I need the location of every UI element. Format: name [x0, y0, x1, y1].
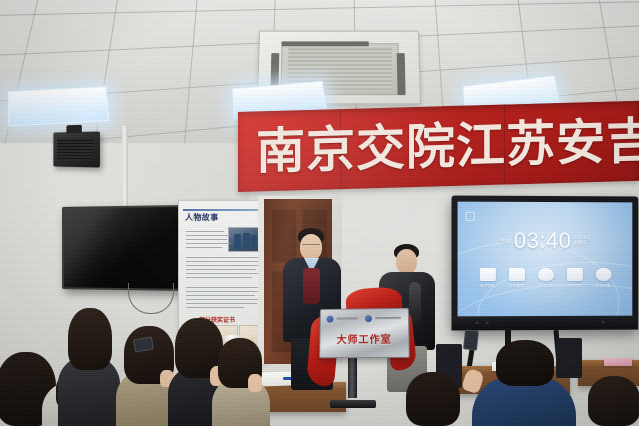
app-label: 文件管理 — [507, 284, 525, 289]
red-banner: 南京交院江苏安吉智行技能大 — [238, 101, 639, 192]
app-label: 电子白板 — [478, 284, 496, 289]
app-shortcut-row: 电子白板 文件管理 无线传屏 信号源 系统设置 — [458, 268, 633, 289]
institution-logo — [365, 315, 372, 322]
audience-member — [212, 338, 270, 426]
clock-period: 下午 — [500, 238, 512, 245]
display-bezel — [451, 316, 638, 331]
clock-widget: 下午03:402月19日星期三 — [458, 228, 633, 254]
plaque-text: 大师工作室 — [320, 331, 408, 347]
ceiling-light-panel — [8, 86, 110, 126]
wifi-cast-icon — [538, 268, 554, 281]
glasses-icon — [302, 244, 320, 248]
source-icon — [566, 268, 582, 281]
screen-status-icon — [466, 212, 475, 221]
wall-mounted-tv — [62, 205, 181, 291]
folder-icon — [508, 268, 524, 281]
app-label: 无线传屏 — [537, 283, 555, 288]
app-shortcut[interactable]: 文件管理 — [507, 268, 525, 289]
audience-member — [588, 376, 639, 426]
audience-member — [400, 372, 466, 426]
app-shortcut[interactable]: 电子白板 — [478, 268, 496, 289]
commemorative-plaque: 大师工作室 — [319, 308, 410, 358]
app-shortcut[interactable]: 信号源 — [565, 268, 583, 288]
whiteboard-icon — [479, 268, 495, 281]
plaque-logo-row — [327, 314, 402, 323]
poster-title: 人物故事 — [185, 212, 219, 223]
app-label: 信号源 — [565, 283, 583, 288]
app-label: 系统设置 — [594, 283, 612, 288]
banner-text: 南京交院江苏安吉智行技能大 — [256, 101, 639, 190]
poster-photo — [228, 227, 262, 252]
app-shortcut[interactable]: 无线传屏 — [537, 268, 555, 289]
wall-speaker-icon — [53, 131, 100, 167]
plaque-stand — [330, 352, 376, 408]
clock-time: 03:40 — [514, 228, 572, 253]
settings-icon — [595, 268, 611, 281]
sweater — [303, 268, 320, 304]
photo-scene: 南京交院江苏安吉智行技能大 人物故事 部分获奖证书 — [0, 0, 639, 426]
audience-member — [472, 340, 576, 426]
paper-stack — [604, 358, 632, 366]
app-shortcut[interactable]: 系统设置 — [594, 268, 612, 288]
clock-date: 2月19日星期三 — [573, 236, 590, 247]
audience-member — [58, 308, 120, 426]
display-screen[interactable]: 下午03:402月19日星期三 电子白板 文件管理 无线传屏 信号源 — [458, 202, 633, 317]
smartphone[interactable] — [463, 329, 479, 350]
head — [396, 249, 417, 274]
institution-logo — [327, 315, 334, 322]
smart-display[interactable]: 下午03:402月19日星期三 电子白板 文件管理 无线传屏 信号源 — [451, 196, 638, 331]
